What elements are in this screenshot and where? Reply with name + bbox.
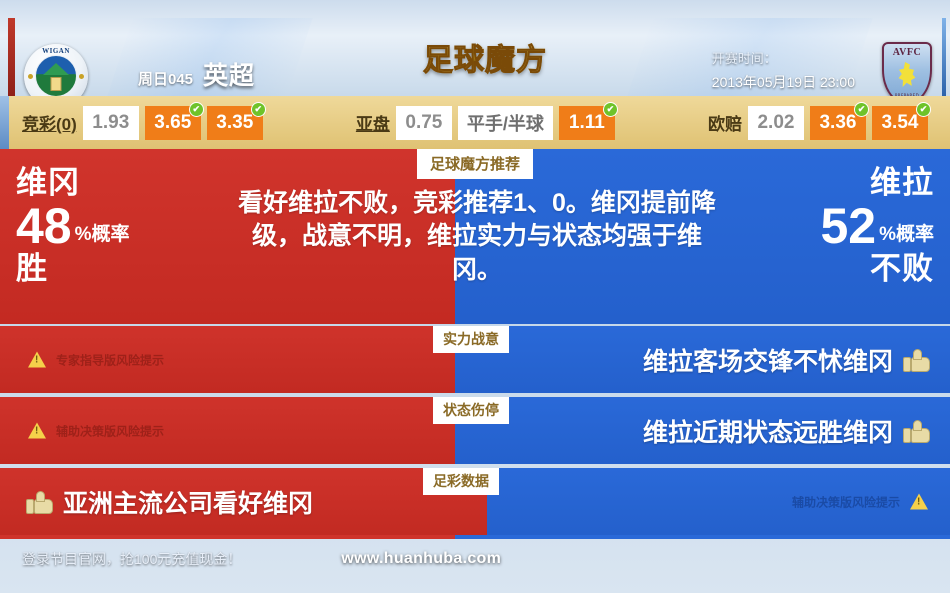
footer-accent-red	[0, 535, 455, 539]
odds-cell-0-0[interactable]: 1.93	[83, 106, 139, 140]
odds-bar: 竞彩(0)1.933.65✔3.35✔亚盘0.75平手/半球1.11✔欧赔2.0…	[0, 96, 950, 149]
analysis-row-blue-side: 辅助决策版风险提示	[487, 468, 950, 535]
odds-group-label-0: 竞彩(0)	[22, 110, 77, 135]
analysis-rows: 专家指导版风险提示维拉客场交锋不怵维冈实力战意辅助决策版风险提示维拉近期状态远胜…	[0, 326, 950, 539]
footer-promo-text: 登录节目官网，抢100元充值现金！	[22, 549, 241, 569]
away-team-badge-icon: AVFC PREPARED	[882, 42, 932, 96]
footer-accent-blue	[455, 535, 950, 539]
away-probability-block: 维拉 52 %概率 不败	[820, 167, 934, 284]
odds-cell-value: 1.11	[569, 112, 605, 134]
away-badge-lion-shape	[897, 62, 917, 88]
check-icon: ✔	[189, 102, 204, 117]
footer-website-link[interactable]: www.huanhuba.com	[341, 550, 501, 568]
analysis-row-headline: 亚洲主流公司看好维冈	[26, 484, 313, 520]
probability-panel: 维冈 48 %概率 胜 维拉 52 %概率 不败 足球魔方推荐 看好维拉不败，竞…	[0, 149, 950, 324]
risk-warning: 辅助决策版风险提示	[792, 493, 928, 510]
analysis-row[interactable]: 专家指导版风险提示维拉客场交锋不怵维冈实力战意	[0, 326, 950, 393]
analysis-row-headline: 维拉客场交锋不怵维冈	[643, 342, 930, 378]
odds-cell-value: 3.65	[154, 112, 191, 134]
odds-group-0: 竞彩(0)1.933.65✔3.35✔	[22, 106, 263, 140]
recommendation-text: 看好维拉不败，竞彩推荐1、0。维冈提前降级，战意不明，维拉实力与状态均强于维冈。	[232, 187, 722, 287]
home-probability-outcome: 胜	[16, 253, 130, 284]
thumb-finger	[36, 491, 45, 502]
home-team-badge-icon: WIGAN ATHLETIC	[24, 44, 88, 96]
risk-warning-text: 辅助决策版风险提示	[56, 422, 164, 439]
risk-warning: 专家指导版风险提示	[28, 351, 164, 368]
kickoff-label: 开赛时间：	[712, 48, 855, 67]
home-probability-value: 48 %概率	[16, 205, 130, 248]
odds-cell-value: 平手/半球	[467, 110, 544, 136]
odds-group-label-1: 亚盘	[356, 110, 390, 135]
home-badge-dot-right	[79, 74, 84, 79]
analysis-row[interactable]: 亚洲主流公司看好维冈辅助决策版风险提示足彩数据	[0, 468, 950, 535]
analysis-row-headline: 维拉近期状态远胜维冈	[643, 413, 930, 449]
odds-groups-container: 竞彩(0)1.933.65✔3.35✔亚盘0.75平手/半球1.11✔欧赔2.0…	[0, 106, 950, 140]
kickoff-time: 2013年05月19日 23:00	[712, 72, 855, 92]
thumb-finger	[913, 420, 922, 431]
odds-cell-1-0[interactable]: 0.75	[396, 106, 452, 140]
analysis-row-tag: 状态伤停	[433, 397, 509, 424]
check-icon: ✔	[854, 102, 869, 117]
odds-group-label-2: 欧赔	[708, 110, 742, 135]
home-probability-block: 维冈 48 %概率 胜	[16, 167, 130, 284]
thumbs-up-icon	[26, 490, 53, 514]
odds-bar-left-edge	[0, 96, 9, 149]
league-name: 英超	[203, 56, 255, 92]
home-probability-number: 48	[16, 205, 72, 248]
analysis-row[interactable]: 辅助决策版风险提示维拉近期状态远胜维冈状态伤停	[0, 397, 950, 464]
home-badge-inner	[35, 55, 77, 96]
thumbs-up-icon	[903, 419, 930, 443]
warning-triangle-icon	[910, 494, 928, 510]
analysis-row-blue-side: 维拉近期状态远胜维冈	[455, 397, 950, 464]
recommendation-tag: 足球魔方推荐	[417, 149, 533, 179]
away-badge-shield: AVFC PREPARED	[882, 42, 932, 96]
home-badge-tower-shape	[51, 77, 62, 91]
analysis-row-headline-text: 亚洲主流公司看好维冈	[63, 484, 313, 520]
analysis-row-red-side: 专家指导版风险提示	[0, 326, 455, 393]
header-bar: WIGAN ATHLETIC 周日045 英超 足球魔方 开赛时间： 2013年…	[0, 18, 950, 96]
thumbs-up-icon	[903, 348, 930, 372]
check-icon: ✔	[251, 102, 266, 117]
kickoff-info: 开赛时间： 2013年05月19日 23:00	[712, 48, 855, 92]
away-probability-outcome: 不败	[820, 253, 934, 284]
odds-cell-2-0[interactable]: 2.02	[748, 106, 804, 140]
analysis-row-blue-side: 维拉客场交锋不怵维冈	[455, 326, 950, 393]
check-icon: ✔	[603, 102, 618, 117]
odds-group-2: 欧赔2.023.36✔3.54✔	[708, 106, 928, 140]
risk-warning: 辅助决策版风险提示	[28, 422, 164, 439]
analysis-row-red-side: 亚洲主流公司看好维冈	[0, 468, 487, 535]
odds-group-1: 亚盘0.75平手/半球1.11✔	[356, 106, 615, 140]
odds-cell-value: 3.35	[216, 112, 253, 134]
risk-warning-text: 专家指导版风险提示	[56, 351, 164, 368]
home-badge-hill-shape	[43, 63, 69, 75]
warning-triangle-icon	[28, 423, 46, 439]
away-badge-name: AVFC	[884, 47, 930, 58]
page-root: WIGAN ATHLETIC 周日045 英超 足球魔方 开赛时间： 2013年…	[0, 0, 950, 593]
odds-cell-0-1[interactable]: 3.65✔	[145, 106, 201, 140]
thumb-pad	[903, 428, 911, 443]
odds-cell-2-2[interactable]: 3.54✔	[872, 106, 928, 140]
analysis-row-tag: 足彩数据	[423, 468, 499, 495]
analysis-row-headline-text: 维拉客场交锋不怵维冈	[643, 342, 893, 378]
check-icon: ✔	[916, 102, 931, 117]
risk-warning-text: 辅助决策版风险提示	[792, 493, 900, 510]
analysis-row-tag: 实力战意	[433, 326, 509, 353]
odds-cell-value: 0.75	[405, 112, 442, 134]
home-badge-dot-left	[28, 74, 33, 79]
odds-cell-value: 3.36	[819, 112, 856, 134]
brand-logo-text: 足球魔方	[423, 35, 547, 79]
odds-cell-value: 3.54	[881, 112, 918, 134]
odds-cell-2-1[interactable]: 3.36✔	[810, 106, 866, 140]
thumb-finger	[913, 349, 922, 360]
warning-triangle-icon	[28, 352, 46, 368]
away-probability-unit: %概率	[879, 225, 934, 248]
analysis-row-headline-text: 维拉近期状态远胜维冈	[643, 413, 893, 449]
match-meta: 周日045 英超	[138, 56, 255, 92]
odds-cell-value: 1.93	[92, 112, 129, 134]
away-probability-value: 52 %概率	[820, 205, 934, 248]
footer-bar: 登录节目官网，抢100元充值现金！ www.huanhuba.com	[0, 539, 950, 579]
away-team-label: 维拉	[820, 167, 934, 198]
away-probability-number: 52	[820, 205, 876, 248]
home-probability-unit: %概率	[75, 225, 130, 248]
header-accent-blue-bar	[942, 18, 946, 96]
brand-logo: 足球魔方	[400, 18, 570, 96]
odds-cell-value: 2.02	[757, 112, 794, 134]
odds-cell-1-2[interactable]: 1.11✔	[559, 106, 615, 140]
home-team-label: 维冈	[16, 167, 130, 198]
odds-cell-1-1[interactable]: 平手/半球	[458, 106, 553, 140]
match-number: 周日045	[138, 68, 193, 89]
analysis-row-red-side: 辅助决策版风险提示	[0, 397, 455, 464]
thumb-pad	[903, 357, 911, 372]
home-badge-name: WIGAN	[24, 47, 88, 55]
odds-cell-0-2[interactable]: 3.35✔	[207, 106, 263, 140]
thumb-pad	[26, 499, 34, 514]
header-accent-red-bar	[8, 18, 15, 96]
